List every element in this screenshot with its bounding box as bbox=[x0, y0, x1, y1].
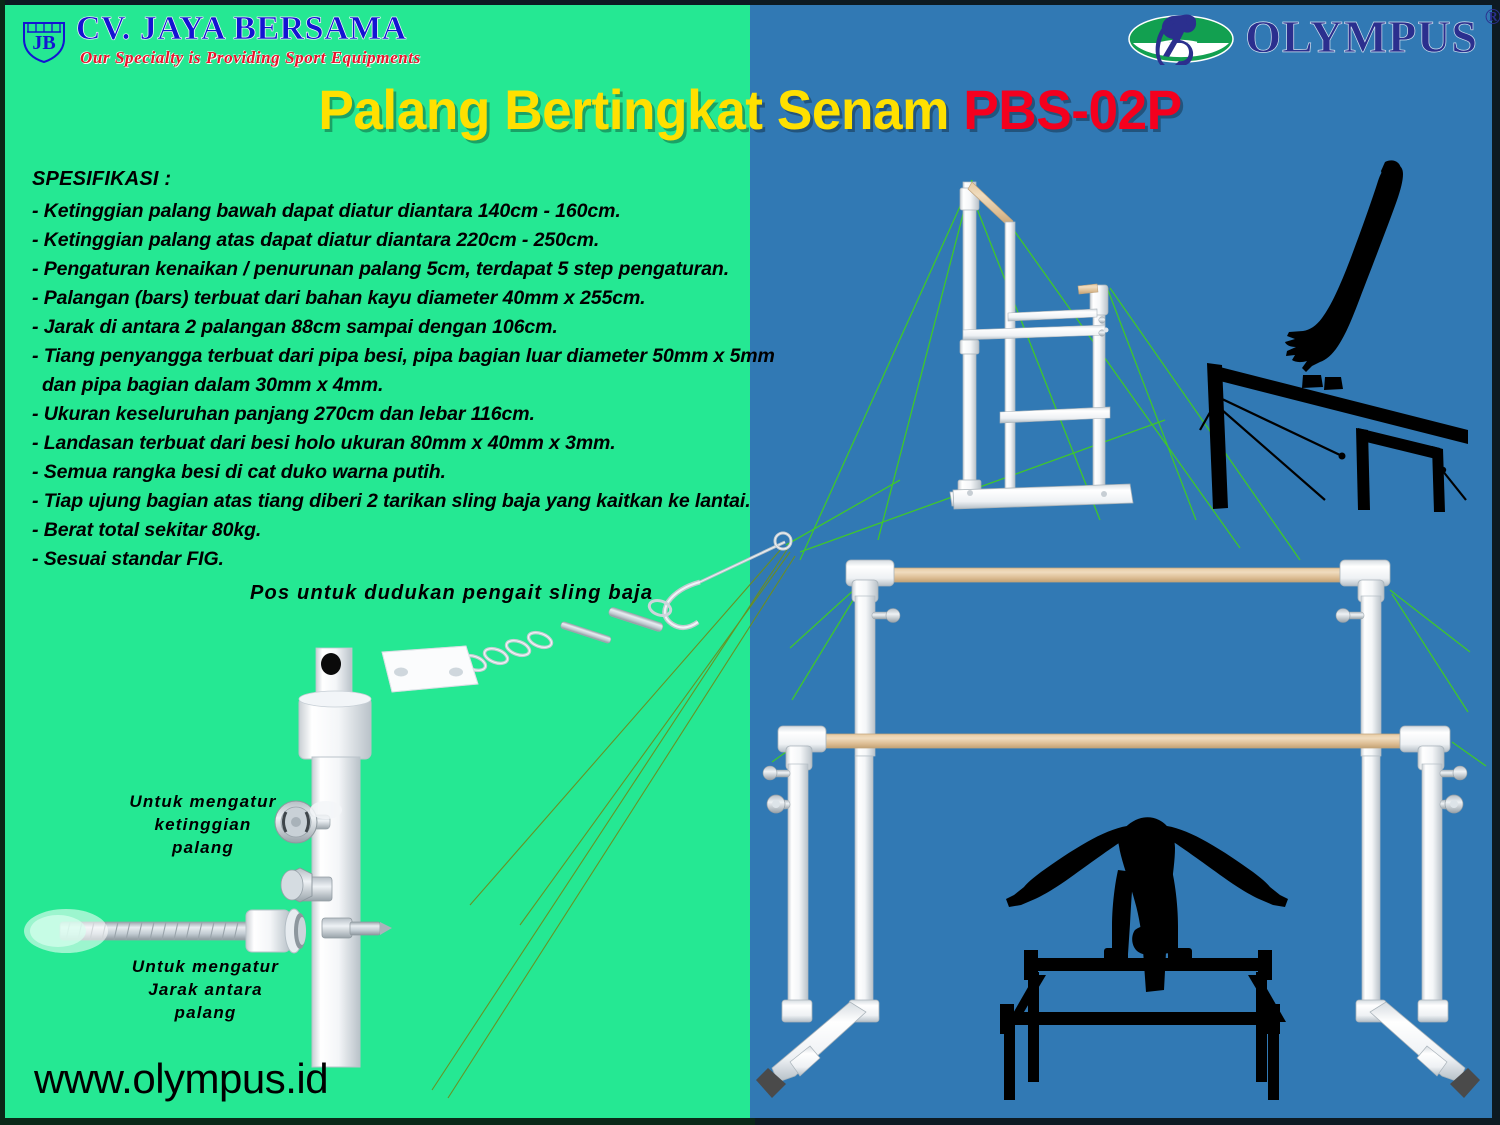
spec-item: - Ketinggian palang atas dapat diatur di… bbox=[32, 226, 752, 255]
spec-item: - Berat total sekitar 80kg. bbox=[32, 516, 752, 545]
website-url[interactable]: www.olympus.id bbox=[34, 1055, 328, 1103]
specifications-heading: SPESIFIKASI : bbox=[32, 168, 752, 191]
guy-wire-lines-left bbox=[432, 548, 795, 1098]
right-brand-block: OLYMPUS ® bbox=[1125, 6, 1478, 68]
height-adjust-knob bbox=[872, 609, 1364, 623]
spec-item: - Landasan terbuat dari besi holo ukuran… bbox=[32, 429, 752, 458]
callout-height-adjust: Untuk mengatur ketinggian palang bbox=[128, 790, 278, 859]
callout-height-adjust-line2: ketinggian palang bbox=[128, 813, 278, 859]
spec-item: - Pengaturan kenaikan / penurunan palang… bbox=[32, 255, 752, 284]
company-name: CV. JAYA BERSAMA bbox=[76, 10, 407, 48]
page-title-product: Palang Bertingkat Senam bbox=[318, 78, 949, 141]
spec-item: - Ukuran keseluruhan panjang 270cm dan l… bbox=[32, 400, 752, 429]
callout-sling-post: Pos untuk dudukan pengait sling baja bbox=[250, 582, 653, 605]
side-view-equipment bbox=[950, 182, 1133, 509]
callout-distance-adjust-line2: Jarak antara palang bbox=[118, 978, 293, 1024]
callout-distance-adjust-line1: Untuk mengatur bbox=[118, 955, 293, 978]
spec-item-continuation: dan pipa bagian dalam 30mm x 4mm. bbox=[32, 371, 752, 400]
page-title-model-code: PBS-02P bbox=[963, 78, 1181, 141]
olympus-wordmark: OLYMPUS ® bbox=[1245, 14, 1478, 60]
jb-shield-logo-icon: JB bbox=[18, 14, 70, 64]
svg-text:JB: JB bbox=[32, 32, 55, 54]
left-brand-block: JB CV. JAYA BERSAMA Our Specialty is Pro… bbox=[14, 8, 434, 70]
callout-height-adjust-line1: Untuk mengatur bbox=[128, 790, 278, 813]
spec-item: - Tiang penyangga terbuat dari pipa besi… bbox=[32, 342, 752, 371]
page-title: Palang Bertingkat Senam PBS-02P bbox=[38, 82, 1463, 138]
spec-item: - Semua rangka besi di cat duko warna pu… bbox=[32, 458, 752, 487]
company-tagline: Our Specialty is Providing Sport Equipme… bbox=[80, 48, 421, 68]
olympus-swimmer-oval-icon bbox=[1125, 9, 1237, 65]
gymnast-planche-silhouette bbox=[1000, 817, 1288, 1100]
spec-item: - Jarak di antara 2 palangan 88cm sampai… bbox=[32, 313, 752, 342]
spec-item: - Ketinggian palang bawah dapat diatur d… bbox=[32, 197, 752, 226]
product-poster: JB CV. JAYA BERSAMA Our Specialty is Pro… bbox=[0, 0, 1500, 1125]
registered-trademark-icon: ® bbox=[1485, 6, 1500, 28]
olympus-wordmark-text: OLYMPUS bbox=[1245, 11, 1478, 62]
specifications-block: SPESIFIKASI : - Ketinggian palang bawah … bbox=[32, 168, 752, 574]
callout-distance-adjust: Untuk mengatur Jarak antara palang bbox=[118, 955, 293, 1024]
spec-item: - Tiap ujung bagian atas tiang diberi 2 … bbox=[32, 487, 752, 516]
gymnast-handstand-silhouette bbox=[1200, 160, 1468, 512]
spec-item: - Sesuai standar FIG. bbox=[32, 545, 752, 574]
spec-item: - Palangan (bars) terbuat dari bahan kay… bbox=[32, 284, 752, 313]
